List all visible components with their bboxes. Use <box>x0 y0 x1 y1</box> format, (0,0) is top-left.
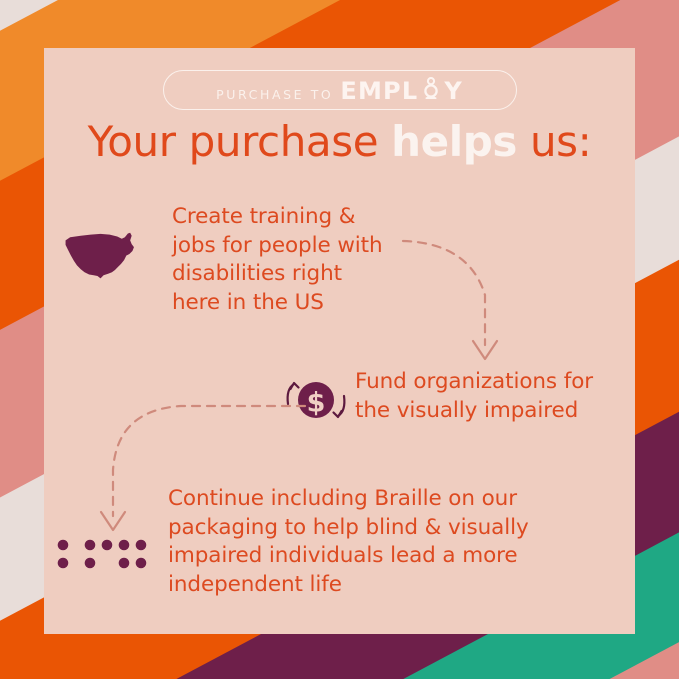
curved-dashed-arrow-icon <box>399 233 539 373</box>
brand-badge-prefix: PURCHASE TO <box>216 87 333 102</box>
person-figure-icon <box>419 77 443 101</box>
brand-badge-word-part2: Y <box>444 77 463 105</box>
headline-part-3: us: <box>517 117 591 166</box>
headline-emphasis: helps <box>391 117 517 166</box>
benefit-text-braille-packaging: Continue including Braille on our packag… <box>168 485 568 599</box>
brand-badge-word-part1: EMPL <box>340 77 418 105</box>
benefit-text-fund-organizations: Fund organizations for the visually impa… <box>355 368 635 425</box>
svg-text:$: $ <box>307 388 326 419</box>
brand-badge-container: PURCHASE TO EMPL Y <box>44 70 635 110</box>
braille-dots-icon <box>54 535 154 575</box>
page-title: Your purchase helps us: <box>44 120 635 164</box>
us-map-icon <box>61 226 137 282</box>
content-card: PURCHASE TO EMPL Y <box>44 48 635 634</box>
brand-badge-wordmark: EMPL Y <box>340 75 463 105</box>
infographic-card-page: PURCHASE TO EMPL Y <box>0 0 679 679</box>
headline-part-1: Your purchase <box>88 117 392 166</box>
brand-badge-text: PURCHASE TO EMPL Y <box>216 75 463 105</box>
benefit-text-training-jobs: Create training & jobs for people with d… <box>172 203 432 317</box>
brand-badge: PURCHASE TO EMPL Y <box>163 70 517 110</box>
